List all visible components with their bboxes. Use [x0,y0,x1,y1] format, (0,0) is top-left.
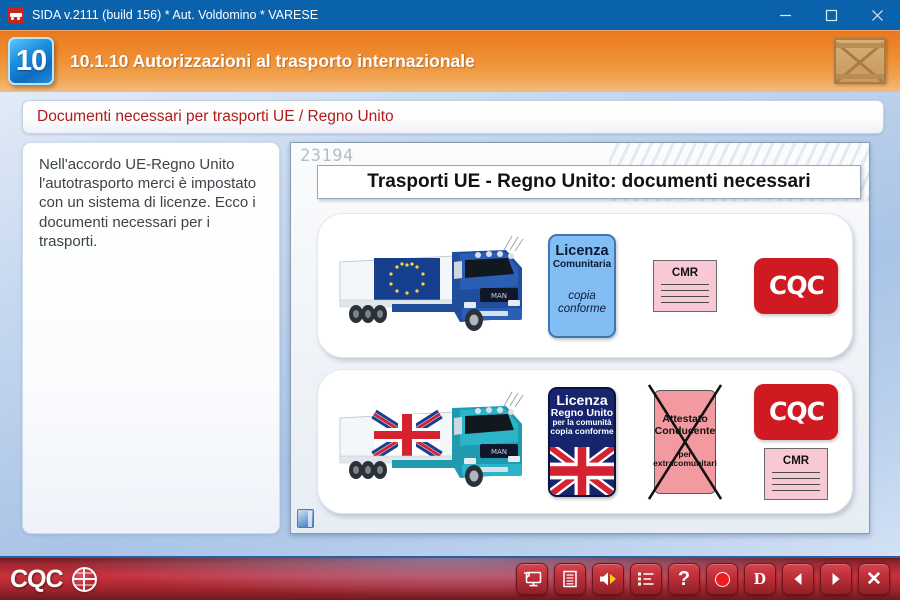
subtitle-area: Documenti necessari per trasporti UE / R… [0,92,900,134]
row-uk: MAN Licenza Regno Unito pe [317,369,853,514]
globe-icon[interactable] [72,567,97,592]
eu-truck: MAN [334,234,530,338]
help-button[interactable]: ? [668,563,700,595]
arrow-right-icon [828,571,844,587]
list-icon [637,571,655,587]
uk-documents-stack: CQC CMR [754,384,838,500]
page-title: 10.1.10 Autorizzazioni al trasporto inte… [70,51,475,72]
note-panel: Nell'accordo UE-Regno Unito l'autotraspo… [22,142,280,534]
section-subtitle: Documenti necessari per trasporti UE / R… [22,100,884,134]
cross-out-icon [647,383,723,501]
maximize-icon[interactable] [808,0,854,30]
x-icon: ✕ [866,568,882,591]
record-button[interactable] [706,563,738,595]
licenza-comunitaria-line2: Comunitaria [553,260,611,270]
cqc-logo-text: CQC [768,397,824,426]
window-controls [762,0,900,30]
next-button[interactable] [820,563,852,595]
cqc-logo-card: CQC [754,384,838,440]
previous-button[interactable] [782,563,814,595]
page-header: 10 10.1.10 Autorizzazioni al trasporto i… [0,30,900,92]
licenza-regno-unito-card: Licenza Regno Unito per la comunità copi… [548,387,616,497]
brand-logo: CQC [10,565,97,594]
audio-play-button[interactable] [592,563,624,595]
licenza-uk-line4: copia conforme [550,427,614,436]
bottom-toolbar: CQC [0,556,900,600]
close-button[interactable]: ✕ [858,563,890,595]
cmr-label: CMR [783,455,809,467]
slide-panel: 23194 Trasporti UE - Regno Unito: docume… [290,142,870,534]
content-area: Nell'accordo UE-Regno Unito l'autotraspo… [0,134,900,534]
uk-truck: MAN [334,390,530,494]
uk-flag-icon [550,447,614,495]
cqc-logo-text: CQC [768,271,824,300]
present-screen-button[interactable] [516,563,548,595]
licenza-uk-line2: Regno Unito [550,408,614,419]
document-button[interactable] [554,563,586,595]
dictionary-button[interactable]: D [744,563,776,595]
slide-number: 23194 [300,146,354,166]
licenza-uk-line1: Licenza [550,393,614,407]
letter-d-icon: D [754,569,766,589]
cqc-brand-text: CQC [9,565,63,594]
monitor-icon [523,570,542,588]
cmr-label: CMR [672,267,698,279]
toolbar-buttons: ? D ✕ [516,563,890,595]
cmr-document: CMR [653,260,717,312]
cmr-document: CMR [764,448,828,500]
svg-text:MAN: MAN [491,448,507,456]
attestato-conducente-card: Attestato Conducente per extracomunitari [654,390,716,494]
arrow-left-icon [790,571,806,587]
minimize-icon[interactable] [762,0,808,30]
window-title: SIDA v.2111 (build 156) * Aut. Voldomino… [32,8,762,22]
row-eu: MAN L [317,213,853,358]
chapter-badge: 10 [8,37,54,85]
licenza-comunitaria-line1: Licenza [555,244,608,259]
question-mark-icon: ? [678,568,690,591]
cqc-logo-card: CQC [754,258,838,314]
slide-thumbnail-icon[interactable] [297,509,314,528]
record-dot-icon [715,572,730,587]
licenza-comunitaria-card: Licenza Comunitaria copiaconforme [548,234,616,338]
wooden-crate-icon [834,38,886,84]
document-icon [562,570,578,588]
speaker-icon [598,570,618,588]
cmr-lines [661,284,708,309]
index-list-button[interactable] [630,563,662,595]
close-icon[interactable] [854,0,900,30]
truck-icon [8,7,24,23]
svg-text:MAN: MAN [491,292,507,300]
cmr-lines [772,472,819,497]
application-window: SIDA v.2111 (build 156) * Aut. Voldomino… [0,0,900,600]
licenza-comunitaria-line3: copiaconforme [558,290,606,316]
slide-title: Trasporti UE - Regno Unito: documenti ne… [317,165,861,199]
title-bar: SIDA v.2111 (build 156) * Aut. Voldomino… [0,0,900,30]
